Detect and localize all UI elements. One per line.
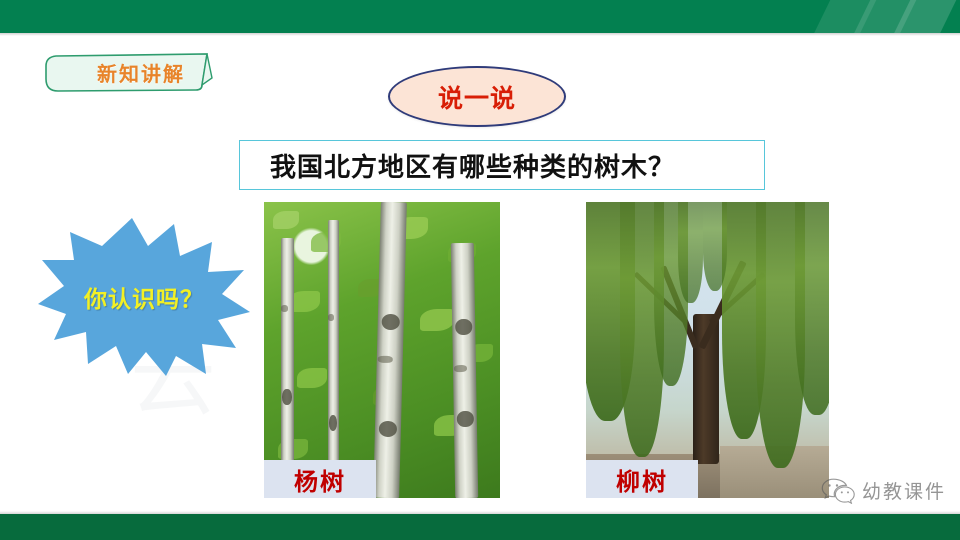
willow-foliage bbox=[703, 202, 727, 291]
tree-trunk bbox=[328, 220, 339, 498]
callout-starburst: 你认识吗？ bbox=[36, 216, 252, 378]
section-ribbon-label: 新知讲解 bbox=[42, 52, 214, 93]
photo-poplar[interactable]: 杨树 bbox=[264, 202, 500, 498]
tree-trunk bbox=[281, 238, 294, 498]
top-bar-shadow bbox=[0, 33, 960, 36]
question-box: 我国北方地区有哪些种类的树木？ bbox=[239, 140, 765, 190]
bottom-green-bar bbox=[0, 514, 960, 540]
willow-foliage bbox=[678, 202, 702, 303]
wechat-logo-icon bbox=[821, 478, 855, 504]
question-text: 我国北方地区有哪些种类的树木？ bbox=[270, 147, 675, 184]
speak-badge-label: 说一说 bbox=[438, 79, 516, 115]
wechat-watermark: 幼教课件 bbox=[821, 477, 946, 504]
willow-foliage bbox=[795, 202, 829, 415]
callout-label: 你认识吗？ bbox=[36, 216, 252, 378]
photo-caption-willow: 柳树 bbox=[586, 460, 698, 498]
photo-willow[interactable]: 柳树 bbox=[586, 202, 829, 498]
wechat-watermark-label: 幼教课件 bbox=[862, 477, 946, 504]
slide-canvas: 云 新知讲解 说一说 我国北方地区有哪些种类的树木？ 你认识吗？ bbox=[0, 0, 960, 540]
top-green-bar bbox=[0, 0, 960, 33]
speak-badge: 说一说 bbox=[388, 66, 566, 127]
leaf-decoration bbox=[297, 368, 327, 388]
photo-caption-poplar: 杨树 bbox=[264, 460, 376, 498]
tree-trunk bbox=[451, 243, 478, 498]
section-ribbon: 新知讲解 bbox=[42, 52, 214, 93]
leaf-decoration bbox=[420, 309, 454, 331]
